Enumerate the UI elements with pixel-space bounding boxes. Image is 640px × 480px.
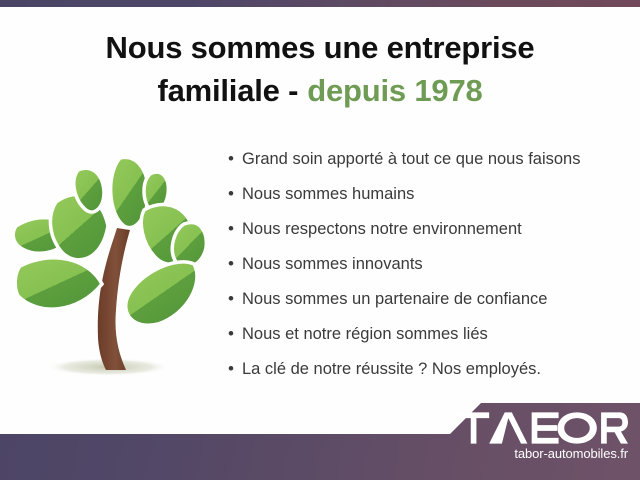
list-item: • Nous sommes humains bbox=[228, 185, 628, 220]
list-item: • Nous respectons notre environnement bbox=[228, 220, 628, 255]
bullet-icon: • bbox=[228, 360, 242, 377]
list-item: • Grand soin apporté à tout ce que nous … bbox=[228, 150, 628, 185]
list-item-label: Grand soin apporté à tout ce que nous fa… bbox=[242, 151, 580, 168]
logo-tagline: tabor-automobiles.fr bbox=[458, 446, 628, 461]
headline-line-2: familiale -depuis 1978 bbox=[0, 69, 640, 112]
tree-icon bbox=[8, 138, 208, 388]
benefits-list: • Grand soin apporté à tout ce que nous … bbox=[228, 150, 628, 395]
list-item-label: Nous sommes un partenaire de confiance bbox=[242, 291, 547, 308]
list-item-label: Nous sommes humains bbox=[242, 186, 414, 203]
headline-accent: depuis 1978 bbox=[307, 73, 482, 108]
list-item-label: Nous respectons notre environnement bbox=[242, 221, 522, 238]
list-item-label: Nous et notre région sommes liés bbox=[242, 326, 488, 343]
list-item: • La clé de notre réussite ? Nos employé… bbox=[228, 360, 628, 395]
brand-logo[interactable]: tabor-automobiles.fr bbox=[458, 411, 628, 461]
list-item: • Nous sommes un partenaire de confiance bbox=[228, 290, 628, 325]
list-item: • Nous sommes innovants bbox=[228, 255, 628, 290]
top-accent-bar bbox=[0, 0, 640, 7]
bullet-icon: • bbox=[228, 220, 242, 237]
bullet-icon: • bbox=[228, 150, 242, 167]
bullet-icon: • bbox=[228, 255, 242, 272]
tabor-wordmark-icon bbox=[458, 411, 628, 445]
headline-line-2-plain: familiale - bbox=[157, 73, 298, 108]
list-item-label: Nous sommes innovants bbox=[242, 256, 423, 273]
list-item: • Nous et notre région sommes liés bbox=[228, 325, 628, 360]
bullet-icon: • bbox=[228, 185, 242, 202]
list-item-label: La clé de notre réussite ? Nos employés. bbox=[242, 361, 541, 378]
family-tree-illustration bbox=[8, 138, 208, 388]
bullet-icon: • bbox=[228, 325, 242, 342]
page-title: Nous sommes une entreprise familiale -de… bbox=[0, 26, 640, 112]
slide-canvas: Nous sommes une entreprise familiale -de… bbox=[0, 0, 640, 480]
bullet-icon: • bbox=[228, 290, 242, 307]
headline-line-1: Nous sommes une entreprise bbox=[0, 26, 640, 69]
